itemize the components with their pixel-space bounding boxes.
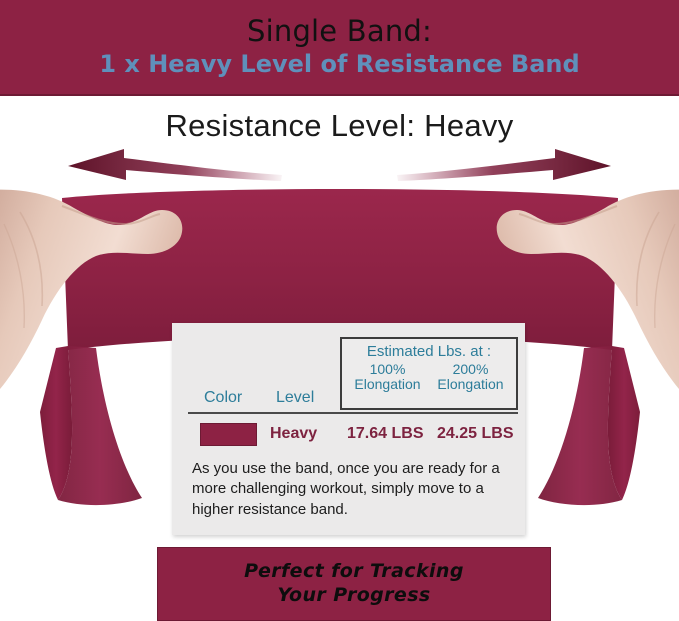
page-title: Single Band: xyxy=(247,16,432,48)
elongation-percent-200: 200% xyxy=(429,362,512,377)
cell-lbs-100: 17.64 LBS xyxy=(347,425,423,443)
band-drape-left xyxy=(40,346,72,500)
usage-note: As you use the band, once you are ready … xyxy=(192,459,510,520)
footer-banner: Perfect for Tracking Your Progress xyxy=(157,547,551,621)
table-header-divider xyxy=(188,412,518,414)
resistance-level-heading: Resistance Level: Heavy xyxy=(0,108,679,144)
elongation-percent-100: 100% xyxy=(346,362,429,377)
cell-lbs-200: 24.25 LBS xyxy=(437,425,513,443)
column-header-level: Level xyxy=(276,389,314,407)
elongation-label-100: Elongation xyxy=(346,377,429,392)
elongation-label-200: Elongation xyxy=(429,377,512,392)
footer-line-1: Perfect for Tracking xyxy=(244,560,464,584)
page-subtitle: 1 x Heavy Level of Resistance Band xyxy=(99,51,579,77)
column-header-100-elongation: 100% Elongation xyxy=(346,362,429,392)
color-swatch xyxy=(200,423,257,446)
column-header-color: Color xyxy=(204,389,242,407)
footer-line-2: Your Progress xyxy=(277,584,430,608)
estimated-lbs-group: Estimated Lbs. at : 100% Elongation 200%… xyxy=(340,337,518,410)
band-drape-right xyxy=(608,346,640,500)
estimated-lbs-header: Estimated Lbs. at : xyxy=(342,339,516,360)
column-header-200-elongation: 200% Elongation xyxy=(429,362,512,392)
spec-card: Estimated Lbs. at : 100% Elongation 200%… xyxy=(172,323,525,535)
header-banner: Single Band: 1 x Heavy Level of Resistan… xyxy=(0,0,679,96)
cell-level: Heavy xyxy=(270,425,317,443)
product-infographic: Single Band: 1 x Heavy Level of Resistan… xyxy=(0,0,679,621)
